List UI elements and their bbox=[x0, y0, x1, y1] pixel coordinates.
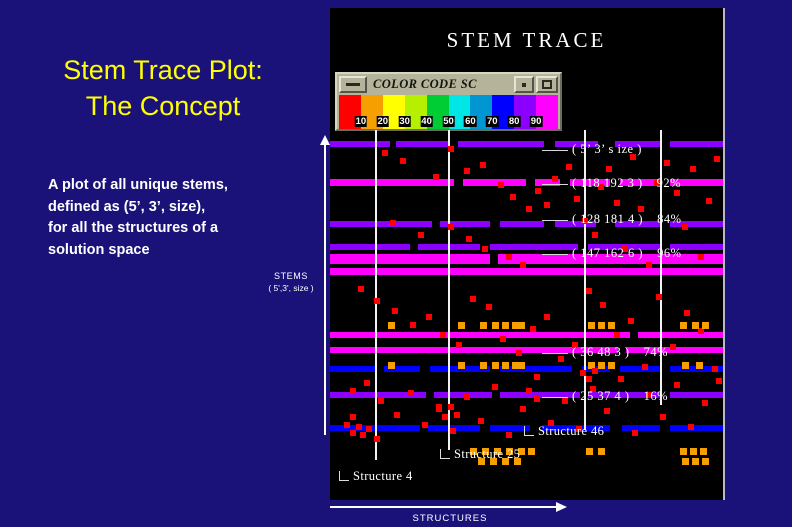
legend-percentage: 84% bbox=[657, 212, 681, 227]
panel-title: STEM TRACE bbox=[330, 28, 723, 53]
stem-point bbox=[712, 366, 718, 372]
legend-item: ( 128 181 4 )84% bbox=[542, 212, 682, 227]
color-window-titlebar: COLOR CODE SC bbox=[339, 76, 558, 93]
stem-point bbox=[366, 426, 372, 432]
stem-point bbox=[364, 380, 370, 386]
stem-point bbox=[360, 432, 366, 438]
stem-point-highlight bbox=[388, 322, 395, 329]
stem-point bbox=[690, 166, 696, 172]
stem-point bbox=[520, 262, 526, 268]
stem-point bbox=[436, 406, 442, 412]
stem-point-highlight bbox=[608, 322, 615, 329]
callout-elbow-icon bbox=[524, 426, 534, 436]
page-title-line2: The Concept bbox=[18, 88, 308, 124]
stem-point bbox=[606, 166, 612, 172]
stem-point bbox=[408, 390, 414, 396]
structure-gridline bbox=[660, 130, 662, 405]
stem-bar bbox=[500, 366, 572, 372]
body-line-2: defined as (5’, 3’, size), bbox=[48, 197, 308, 219]
stem-bar bbox=[330, 254, 490, 264]
legend-percentage: 16% bbox=[644, 389, 668, 404]
color-window-title: COLOR CODE SC bbox=[369, 76, 512, 93]
structure-gridline bbox=[375, 130, 377, 460]
structure-callout-label: Structure 4 bbox=[353, 469, 413, 483]
stem-point bbox=[350, 414, 356, 420]
legend-item: ( 147 162 6 )96% bbox=[542, 246, 682, 261]
minimize-icon[interactable] bbox=[339, 76, 367, 93]
stem-point bbox=[358, 286, 364, 292]
stem-bar bbox=[396, 141, 448, 147]
color-scale-ticks: 102030405060708090 bbox=[339, 115, 558, 128]
stem-point bbox=[478, 418, 484, 424]
stem-point-highlight bbox=[586, 448, 593, 455]
stem-point-highlight bbox=[492, 322, 499, 329]
body-line-4: solution space bbox=[48, 240, 308, 262]
stem-point bbox=[440, 332, 446, 338]
stem-point bbox=[530, 326, 536, 332]
stem-bar bbox=[458, 141, 544, 147]
stem-point bbox=[418, 232, 424, 238]
stem-point-highlight bbox=[682, 362, 689, 369]
stem-point bbox=[410, 322, 416, 328]
stem-point bbox=[716, 378, 722, 384]
x-axis-shaft bbox=[330, 506, 558, 508]
stem-point bbox=[600, 302, 606, 308]
stem-point-highlight bbox=[598, 448, 605, 455]
stem-point bbox=[378, 398, 384, 404]
stem-point bbox=[350, 388, 356, 394]
structure-callout-label: Structure 25 bbox=[454, 447, 520, 461]
x-axis-label: STRUCTURES bbox=[330, 513, 570, 524]
legend-label: ( 36 48 3 ) bbox=[572, 345, 630, 359]
color-scale-tick-50: 50 bbox=[442, 116, 455, 127]
maximize-icon[interactable] bbox=[536, 76, 558, 93]
legend-leader-line bbox=[542, 254, 568, 255]
stem-bar bbox=[670, 392, 723, 398]
stem-point bbox=[356, 424, 362, 430]
stem-bar bbox=[620, 366, 660, 372]
stem-point bbox=[470, 296, 476, 302]
stem-bar bbox=[434, 392, 492, 398]
legend-item: ( 118 192 3 )92% bbox=[542, 176, 681, 191]
stem-point bbox=[632, 430, 638, 436]
stem-point bbox=[698, 254, 704, 260]
legend-item: ( 36 48 3 )74% bbox=[542, 345, 668, 360]
stem-point bbox=[516, 350, 522, 356]
stem-bar bbox=[463, 179, 526, 186]
stem-point-highlight bbox=[502, 362, 509, 369]
stem-point bbox=[400, 158, 406, 164]
stem-point bbox=[544, 202, 550, 208]
stem-point bbox=[706, 198, 712, 204]
stem-point bbox=[586, 376, 592, 382]
stem-trace-panel: STEM TRACE COLOR CODE SC 102030405060708… bbox=[330, 8, 725, 500]
stem-point-highlight bbox=[680, 322, 687, 329]
stem-bar bbox=[330, 268, 723, 275]
color-scale-tick-70: 70 bbox=[486, 116, 499, 127]
stem-point bbox=[492, 384, 498, 390]
color-scale-tick-20: 20 bbox=[377, 116, 390, 127]
legend-label: ( 118 192 3 ) bbox=[572, 176, 643, 190]
stem-point-highlight bbox=[680, 448, 687, 455]
color-scale-tick-40: 40 bbox=[420, 116, 433, 127]
legend-leader-line bbox=[542, 150, 568, 151]
stem-point bbox=[674, 382, 680, 388]
stem-bar bbox=[670, 141, 723, 147]
stem-point bbox=[534, 374, 540, 380]
stem-point bbox=[520, 406, 526, 412]
stem-bar bbox=[330, 366, 376, 372]
legend-percentage: 74% bbox=[644, 345, 668, 360]
callout-elbow-icon bbox=[339, 471, 349, 481]
stem-point bbox=[450, 428, 456, 434]
stem-bar bbox=[622, 425, 660, 431]
color-scale-tick-10: 10 bbox=[355, 116, 368, 127]
color-scale-tick-80: 80 bbox=[508, 116, 521, 127]
stem-point bbox=[688, 424, 694, 430]
stem-point bbox=[586, 288, 592, 294]
page-title: Stem Trace Plot: The Concept bbox=[18, 52, 308, 124]
stem-point bbox=[448, 224, 454, 230]
stem-bar bbox=[330, 179, 454, 186]
stem-point-highlight bbox=[598, 322, 605, 329]
stem-point-highlight bbox=[588, 322, 595, 329]
stem-point bbox=[604, 408, 610, 414]
stem-point bbox=[482, 246, 488, 252]
stem-point-highlight bbox=[608, 362, 615, 369]
legend-leader-line bbox=[542, 353, 568, 354]
legend-label: ( 147 162 6 ) bbox=[572, 246, 643, 260]
stem-point bbox=[350, 430, 356, 436]
dot-icon[interactable] bbox=[514, 76, 534, 93]
stem-point-highlight bbox=[682, 458, 689, 465]
stem-point bbox=[422, 422, 428, 428]
stem-point-highlight bbox=[702, 458, 709, 465]
stem-point-highlight bbox=[480, 322, 487, 329]
stem-bar bbox=[500, 221, 544, 227]
stem-point-highlight bbox=[492, 362, 499, 369]
stem-point bbox=[664, 160, 670, 166]
stem-point bbox=[506, 432, 512, 438]
structure-callout-label: Structure 46 bbox=[538, 424, 604, 438]
stem-point bbox=[642, 364, 648, 370]
stem-bar bbox=[330, 141, 390, 147]
color-code-scale-window[interactable]: COLOR CODE SC 102030405060708090 bbox=[335, 72, 562, 131]
stem-point bbox=[506, 254, 512, 260]
callout-elbow-icon bbox=[440, 449, 450, 459]
stem-point bbox=[592, 368, 598, 374]
stem-point-highlight bbox=[480, 362, 487, 369]
stem-point bbox=[394, 412, 400, 418]
stem-point bbox=[628, 318, 634, 324]
legend-label: ( 25 37 4 ) bbox=[572, 389, 630, 403]
legend-leader-line bbox=[542, 397, 568, 398]
stem-point-highlight bbox=[700, 448, 707, 455]
stem-point bbox=[374, 298, 380, 304]
stem-point bbox=[390, 220, 396, 226]
stem-point bbox=[480, 162, 486, 168]
stem-point bbox=[535, 188, 541, 194]
stem-point bbox=[682, 224, 688, 230]
stem-point bbox=[392, 308, 398, 314]
stem-point-highlight bbox=[598, 362, 605, 369]
page-title-line1: Stem Trace Plot: bbox=[63, 55, 263, 85]
stem-point bbox=[702, 400, 708, 406]
legend-label: ( 128 181 4 ) bbox=[572, 212, 643, 226]
legend-percentage: 92% bbox=[657, 176, 681, 191]
stem-point bbox=[382, 150, 388, 156]
stem-point-highlight bbox=[458, 322, 465, 329]
legend-label: ( 5’ 3’ s ize ) bbox=[572, 142, 642, 156]
stem-bar bbox=[330, 244, 410, 250]
stem-point bbox=[656, 294, 662, 300]
stem-point bbox=[660, 414, 666, 420]
stem-point-highlight bbox=[690, 448, 697, 455]
legend-item: ( 5’ 3’ s ize ) bbox=[542, 142, 642, 157]
stem-point bbox=[500, 336, 506, 342]
stem-point bbox=[510, 194, 516, 200]
x-axis-arrow bbox=[330, 503, 570, 512]
stem-point bbox=[684, 310, 690, 316]
y-axis-label: STEMS ( 5',3', size ) bbox=[255, 270, 327, 294]
stem-point bbox=[534, 396, 540, 402]
structure-callout: Structure 25 bbox=[440, 447, 520, 462]
stem-point bbox=[614, 332, 620, 338]
stem-point-highlight bbox=[702, 322, 709, 329]
legend-item: ( 25 37 4 )16% bbox=[542, 389, 668, 404]
body-line-1: A plot of all unique stems, bbox=[48, 175, 308, 197]
stem-point bbox=[498, 182, 504, 188]
stem-point-highlight bbox=[458, 362, 465, 369]
x-axis-arrowhead-icon bbox=[556, 502, 567, 512]
stem-bar bbox=[670, 425, 723, 431]
color-scale-gradient: 102030405060708090 bbox=[339, 95, 558, 129]
stem-point-highlight bbox=[518, 322, 525, 329]
stem-point bbox=[614, 200, 620, 206]
stem-point bbox=[574, 196, 580, 202]
stem-bar bbox=[638, 332, 723, 338]
stem-point bbox=[646, 262, 652, 268]
stem-point bbox=[426, 314, 432, 320]
legend-percentage: 96% bbox=[657, 246, 681, 261]
stem-point bbox=[466, 236, 472, 242]
stem-point bbox=[344, 422, 350, 428]
stem-point bbox=[448, 404, 454, 410]
structure-callout: Structure 4 bbox=[339, 469, 413, 484]
stem-point-highlight bbox=[692, 458, 699, 465]
stem-point bbox=[433, 174, 439, 180]
stem-point bbox=[526, 388, 532, 394]
color-scale-tick-60: 60 bbox=[464, 116, 477, 127]
stem-point-highlight bbox=[696, 362, 703, 369]
stem-bar bbox=[330, 221, 432, 227]
structure-callout: Structure 46 bbox=[524, 424, 604, 439]
stem-point bbox=[670, 344, 676, 350]
stem-point bbox=[526, 206, 532, 212]
stem-point-highlight bbox=[502, 322, 509, 329]
stem-point bbox=[486, 304, 492, 310]
stem-point bbox=[464, 394, 470, 400]
legend-leader-line bbox=[542, 220, 568, 221]
stem-point bbox=[566, 164, 572, 170]
stem-point bbox=[544, 314, 550, 320]
stem-point-highlight bbox=[528, 448, 535, 455]
color-scale-tick-30: 30 bbox=[398, 116, 411, 127]
stem-point bbox=[448, 146, 454, 152]
color-scale-tick-90: 90 bbox=[530, 116, 543, 127]
stem-point bbox=[592, 232, 598, 238]
structure-gridline bbox=[448, 130, 450, 450]
stem-point bbox=[454, 412, 460, 418]
slide-body-text: A plot of all unique stems, defined as (… bbox=[48, 175, 308, 261]
stem-point-highlight bbox=[692, 322, 699, 329]
stem-point bbox=[714, 156, 720, 162]
y-axis-subtitle: ( 5',3', size ) bbox=[255, 282, 327, 294]
stem-point bbox=[374, 436, 380, 442]
stem-point bbox=[618, 376, 624, 382]
legend-leader-line bbox=[542, 184, 568, 185]
body-line-3: for all the structures of a bbox=[48, 218, 308, 240]
y-axis-title: STEMS bbox=[274, 271, 308, 281]
structure-gridline bbox=[584, 130, 586, 430]
stem-point bbox=[464, 168, 470, 174]
stem-point-highlight bbox=[388, 362, 395, 369]
stem-point-highlight bbox=[518, 362, 525, 369]
stem-point bbox=[456, 342, 462, 348]
stem-point bbox=[442, 414, 448, 420]
